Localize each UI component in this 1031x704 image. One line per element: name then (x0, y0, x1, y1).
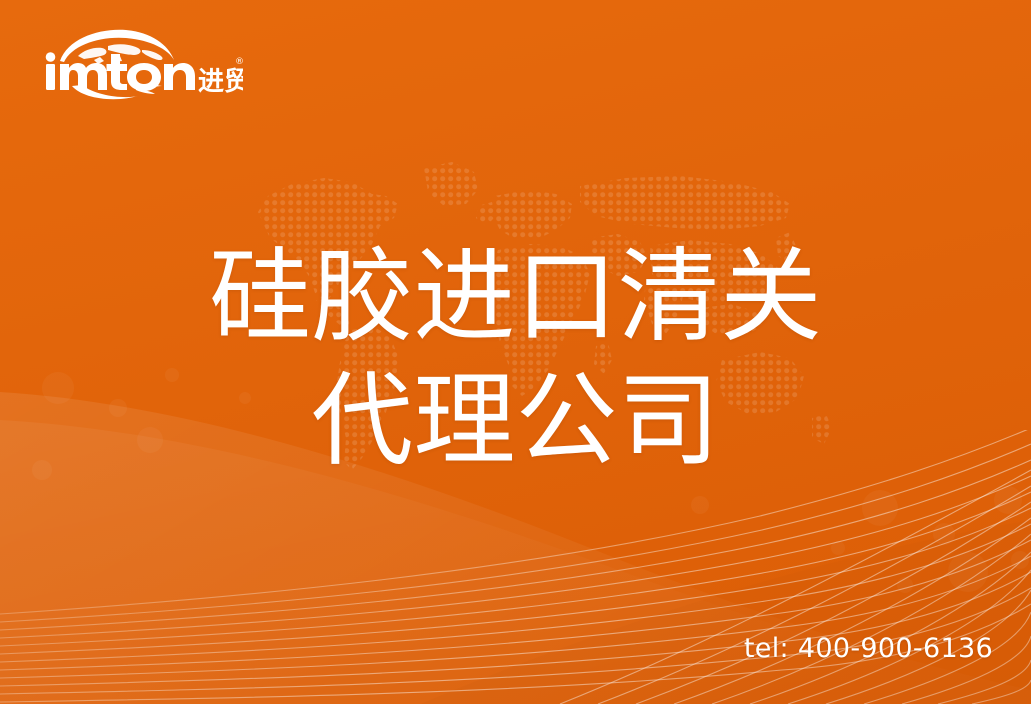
banner-poster: 进贸通 ® 硅胶进口清关 代理公司 tel: 400-900-6136 (0, 0, 1031, 704)
contact-phone[interactable]: tel: 400-900-6136 (744, 633, 993, 664)
page-title: 硅胶进口清关 代理公司 (0, 236, 1031, 485)
headline-line-1: 硅胶进口清关 (0, 236, 1031, 360)
logo-trademark-symbol: ® (235, 57, 243, 67)
imton-logo[interactable]: 进贸通 ® (38, 28, 243, 100)
logo-chinese-text: 进贸通 (198, 67, 243, 97)
headline-line-2: 代理公司 (0, 360, 1031, 484)
